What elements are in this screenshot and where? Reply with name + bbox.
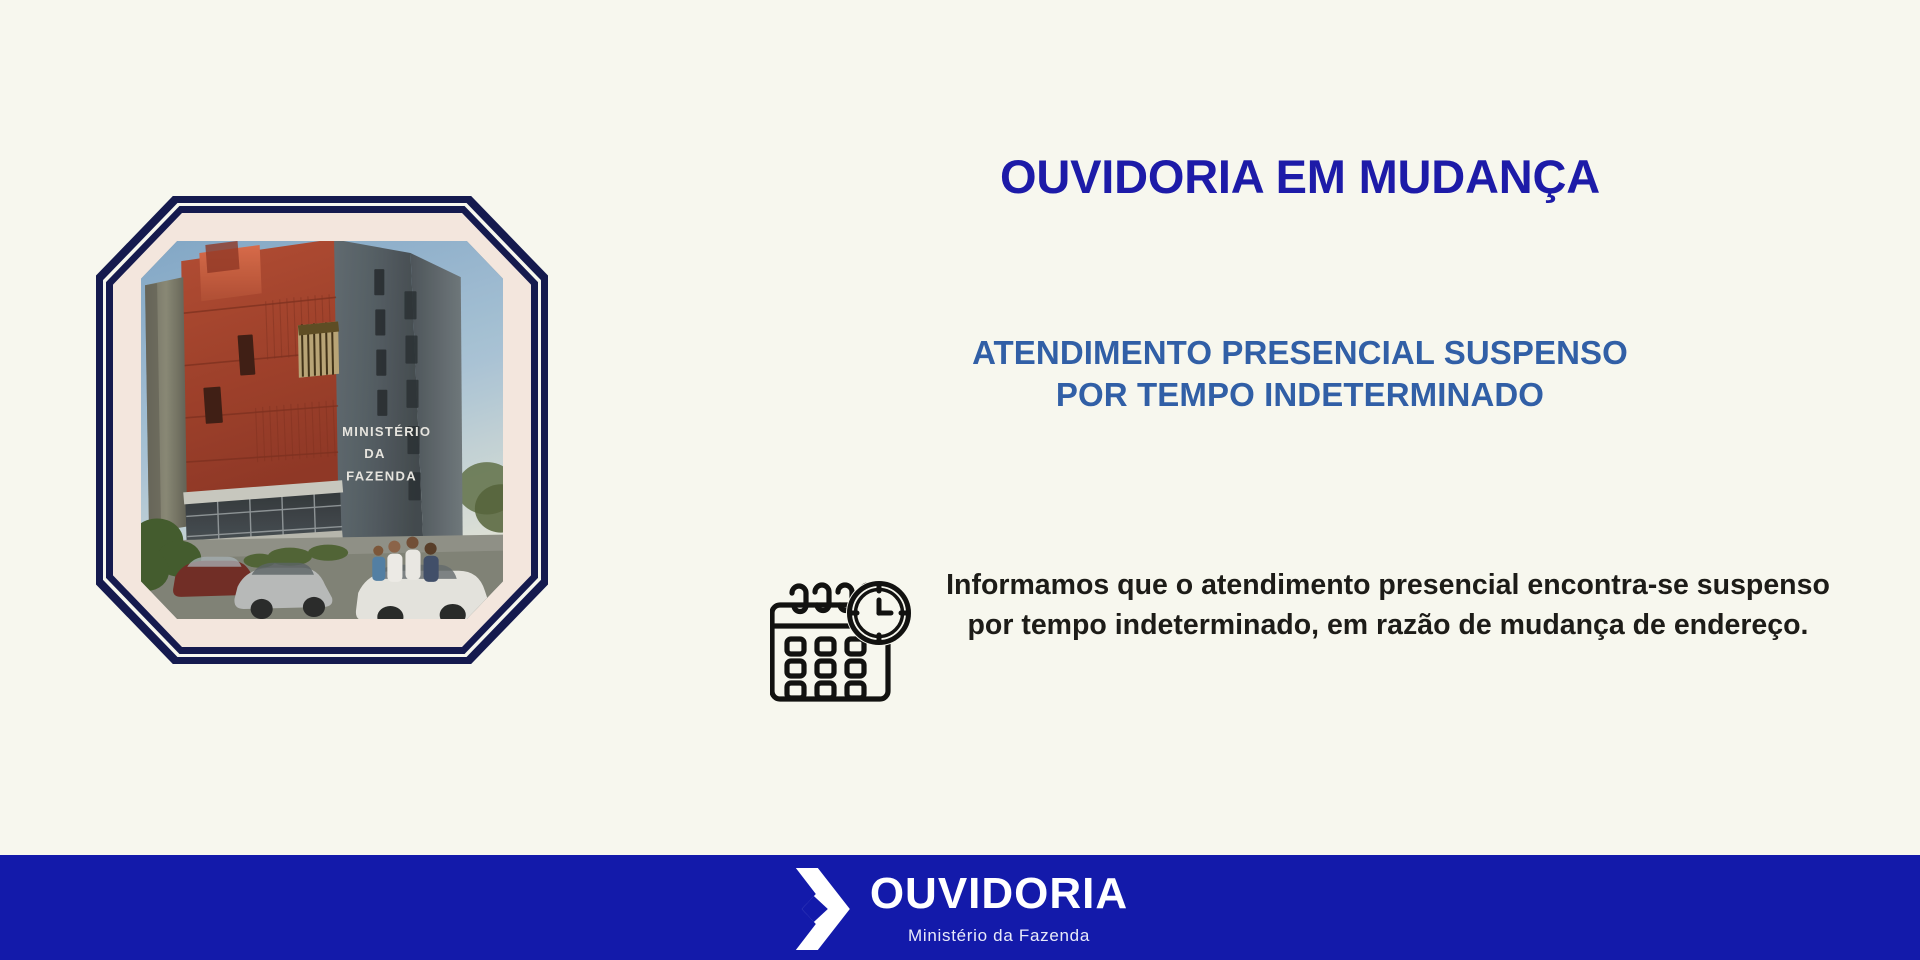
notice-block: Informamos que o atendimento presencial … — [770, 565, 1850, 713]
calendar-clock-icon — [770, 573, 920, 713]
message-column: OUVIDORIA EM MUDANÇA ATENDIMENTO PRESENC… — [770, 0, 1920, 855]
footer-bar: OUVIDORIA Ministério da Fazenda — [0, 855, 1920, 960]
footer-brand-text: OUVIDORIA Ministério da Fazenda — [870, 864, 1128, 944]
poster-canvas: MINISTÉRIO DA FAZENDA — [0, 0, 1920, 960]
footer-brand: OUVIDORIA Ministério da Fazenda — [792, 864, 1128, 952]
subtitle: ATENDIMENTO PRESENCIAL SUSPENSO POR TEMP… — [770, 332, 1830, 416]
page-title: OUVIDORIA EM MUDANÇA — [770, 152, 1830, 201]
notice-text: Informamos que o atendimento presencial … — [946, 565, 1850, 646]
brand-name: OUVIDORIA — [870, 872, 1128, 916]
subtitle-line-2: POR TEMPO INDETERMINADO — [770, 374, 1830, 416]
brand-subtitle: Ministério da Fazenda — [908, 927, 1090, 944]
subtitle-line-1: ATENDIMENTO PRESENCIAL SUSPENSO — [972, 334, 1628, 371]
ministerio-da-fazenda-building-photo: MINISTÉRIO DA FAZENDA — [141, 241, 503, 619]
ouvidoria-chevron-diamond-logo — [792, 866, 854, 952]
framed-photo: MINISTÉRIO DA FAZENDA — [96, 196, 548, 664]
